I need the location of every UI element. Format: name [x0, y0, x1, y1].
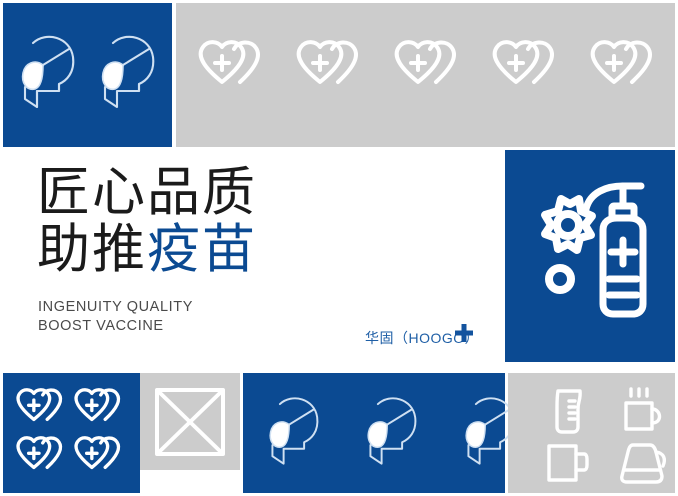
plus-cross-icon [453, 322, 475, 344]
bottom-right-gray-panel [508, 373, 675, 493]
double-heart-plus-icon-group [198, 37, 660, 99]
headline-line-2: 助推疫苗 [37, 221, 257, 278]
top-right-gray-panel [176, 3, 675, 147]
page-title: 匠心品质 助推疫苗 [37, 164, 257, 278]
bottom-mid-gray-panel [140, 373, 240, 470]
sanitizer-pump-bottle-icon [586, 186, 643, 314]
coffee-carafe-icon [616, 440, 670, 486]
double-heart-plus-icon [198, 37, 268, 99]
masked-head-icon [93, 29, 159, 117]
poster-canvas: 匠心品质 助推疫苗 INGENUITY QUALITY BOOST VACCIN… [0, 0, 678, 496]
double-heart-plus-icon-group [13, 385, 129, 481]
headline-line-2-accent: 疫苗 [147, 220, 257, 279]
double-heart-plus-icon [73, 386, 127, 432]
bottom-left-blue-panel [3, 373, 140, 493]
masked-head-icon-group [13, 29, 159, 117]
double-heart-plus-icon [590, 37, 660, 99]
subtitle-text: INGENUITY QUALITY BOOST VACCINE [38, 298, 193, 336]
bottom-mid-blue-panel [243, 373, 505, 493]
crossed-box-icon [154, 387, 226, 457]
vessel-icon-group [532, 385, 678, 489]
steaming-mug-icon [617, 387, 669, 435]
top-left-blue-panel [3, 3, 172, 147]
headline-line-1: 匠心品质 [37, 164, 257, 221]
headline-line-2-black: 助推 [37, 220, 147, 279]
double-heart-plus-icon [73, 434, 127, 480]
headline-white-panel: 匠心品质 助推疫苗 INGENUITY QUALITY BOOST VACCIN… [3, 150, 498, 362]
masked-head-icon-group [261, 391, 519, 473]
double-heart-plus-icon [492, 37, 562, 99]
double-heart-plus-icon [15, 386, 69, 432]
double-heart-plus-icon [296, 37, 366, 99]
double-heart-plus-icon [394, 37, 464, 99]
masked-head-icon [13, 29, 79, 117]
plain-mug-icon [544, 440, 594, 486]
small-ring-icon [549, 268, 571, 290]
masked-head-icon [261, 391, 323, 473]
masked-head-icon [359, 391, 421, 473]
double-heart-plus-icon [15, 434, 69, 480]
sanitizer-icon-group [527, 182, 659, 332]
measuring-beaker-icon [547, 387, 591, 435]
sanitizer-blue-panel [505, 150, 675, 362]
